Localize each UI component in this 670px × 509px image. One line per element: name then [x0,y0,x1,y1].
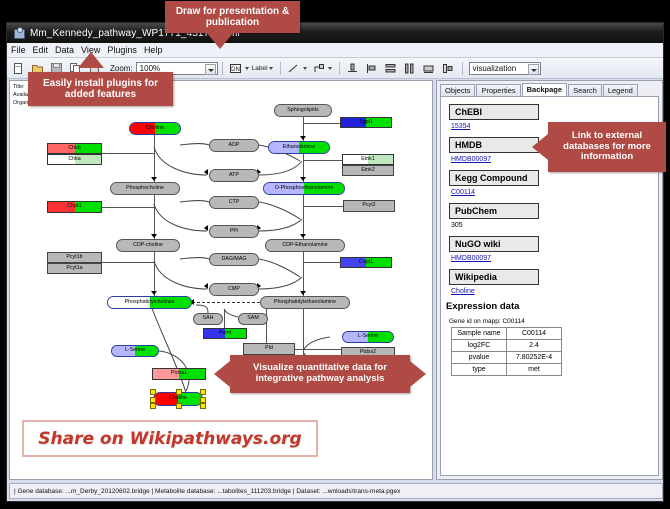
node-label: Phosphatidylethanolamine [274,300,336,305]
node-label: Chpt1 [67,204,81,209]
callout-link: Link to external databases for more info… [548,122,666,172]
node-label: L-Serine [125,348,145,353]
group-icon[interactable] [439,60,456,77]
pathway-node-ethanolamine_top[interactable]: Ethanolamine [268,141,330,154]
selection-handle[interactable] [176,403,182,409]
expression-row-value: 2.4 [507,340,562,352]
node-label: Choline [146,126,164,131]
pathway-node-cdp_choline[interactable]: CDP-choline [116,239,180,252]
selection-handle[interactable] [200,389,206,395]
pathway-node-sphingolipids[interactable]: Sphingolipids [274,104,332,117]
edge-cdpcholine-pc [154,252,155,296]
datanode-dropdown[interactable]: DN [227,60,249,77]
edge-sgpl1-catalysis [303,123,340,124]
align-top-icon[interactable] [344,60,361,77]
pathway-node-pemt[interactable]: Pemt [203,328,247,339]
arrowhead-icon [151,234,157,238]
screenshot-root: Mm_Kennedy_pathway_WP1771_45176.gpml Fil… [0,0,670,509]
expression-data-table: Sample nameC00114log2FC2.4pvalue7.80252E… [451,327,562,376]
panel-tab-strip: Objects Properties Backpage Search Legen… [440,83,639,96]
node-label: L-Serine [358,334,378,339]
edge-phosphocholine-cdpcholine [154,195,155,239]
pathway-node-l_serine_right[interactable]: L-Serine [342,331,394,343]
table-row: Sample nameC00114 [452,328,562,340]
node-label: Etnk1 [361,157,375,162]
callout-arrow-right-icon [410,361,426,387]
node-label: Ethanolamine [283,145,315,150]
tab-legend[interactable]: Legend [603,84,638,96]
database-header-nugo-wiki: NuGO wiki [449,236,539,252]
database-header-pubchem: PubChem [449,203,539,219]
title-bar: Mm_Kennedy_pathway_WP1771_45176.gpml [7,23,663,43]
edge-cept1-catalysis [303,262,340,263]
edge-pcyt1-catalysis [102,262,154,263]
pathway-node-phosphatidylcholines[interactable]: Phosphatidylcholines [107,296,192,309]
pathway-node-ctp[interactable]: CTP [209,196,259,209]
database-entry: Wikipedia [441,262,658,287]
node-label: Phosphatidylcholines [125,300,175,305]
arrowhead-icon [204,283,208,289]
node-label: Choline [169,396,187,401]
visualization-combobox[interactable]: visualization [469,62,541,75]
line-icon[interactable] [285,60,302,77]
node-label: Pld [265,346,273,351]
selection-handle[interactable] [150,403,156,409]
callout-arrow-up-icon [78,52,104,68]
node-label: Chkb [68,146,80,151]
arrowhead-icon [204,169,208,175]
pathway-node-dagmag[interactable]: DAG/MAG [209,253,259,266]
edge-pld-ptdss2 [295,349,341,350]
expression-row-label: Sample name [452,328,507,340]
pathway-node-chpt1[interactable]: Chpt1 [47,201,102,213]
edge-chpt1-catalysis [102,207,154,208]
node-label: Pemt [219,331,231,336]
gene-id-line: Gene id on mapp: C00114 [449,318,658,325]
database-header-hmdb: HMDB [449,137,539,153]
node-label: CMP [228,287,240,292]
expression-row-label: log2FC [452,340,507,352]
callout-visualize: Visualize quantitative data for integrat… [230,355,410,393]
node-label: ATP [229,173,239,178]
database-link-wikipedia[interactable]: Choline [451,288,658,295]
arrowhead-icon [300,234,306,238]
node-label: Phosphocholine [126,186,164,191]
node-label: PPi [230,229,238,234]
pathway-node-pcyt2[interactable]: Pcyt2 [343,200,395,212]
expression-row-label: type [452,364,507,376]
pathway-node-cmp[interactable]: CMP [209,283,259,296]
pathway-node-pld[interactable]: Pld [243,343,295,355]
node-label: Cept1 [359,260,373,265]
table-row: log2FC2.4 [452,340,562,352]
chevron-down-icon[interactable] [205,64,216,75]
pathway-node-phosphatidylethanolamine[interactable]: Phosphatidylethanolamine [260,296,350,309]
database-header-kegg-compound: Kegg Compound [449,170,539,186]
node-label: Ptdss1 [171,371,187,376]
pathway-node-cept1[interactable]: Cept1 [340,257,392,268]
edge-cdpetn-pe [303,252,304,296]
arrowhead-icon [300,136,306,140]
pathway-node-ptdss1[interactable]: Ptdss1 [152,368,206,380]
selection-handle[interactable] [150,389,156,395]
datanode-icon[interactable]: DN [227,60,244,77]
chevron-down-icon[interactable] [328,67,332,70]
callout-arrow-left-icon [214,361,230,387]
app-icon [13,27,25,39]
table-row: typemet [452,364,562,376]
arrowhead-icon [151,177,157,181]
stack-icon[interactable] [420,60,437,77]
info-label-title: Title: [13,84,25,90]
distribute-vert-icon[interactable] [382,60,399,77]
toolbar-separator [339,62,340,75]
svg-text:DN: DN [231,67,240,73]
chevron-down-icon[interactable] [528,64,539,75]
callout-share: Share on Wikipathways.org [22,420,318,457]
pathway-node-sah[interactable]: SAH [193,313,223,325]
edge-opetn-cdpetn [303,195,304,239]
node-label: Sphingolipids [287,108,319,113]
node-label: Pcyt1b [66,255,82,260]
chevron-down-icon[interactable] [303,67,307,70]
edge-pe-pc-dashed [192,302,260,303]
pathway-node-pcyt1a[interactable]: Pcyt1a [47,263,102,274]
pathway-node-adp[interactable]: ADP [209,139,259,152]
expression-row-value: met [507,364,562,376]
connector-icon[interactable] [310,60,327,77]
pathway-node-sgpl1[interactable]: Sgpl1 [340,117,392,128]
toolbar-separator [280,62,281,75]
status-bar: | Gene database: ...m_Derby_20120602.bri… [9,483,663,499]
pathway-node-etnk1[interactable]: Etnk1 [342,154,394,165]
node-label: Sgpl1 [359,120,373,125]
node-label: O-Phosphoethanolamine [275,186,334,191]
chevron-down-icon[interactable] [245,67,249,70]
menu-item-help[interactable]: Help [144,45,163,55]
table-row: pvalue7.80252E-4 [452,352,562,364]
node-label: CTP [229,200,240,205]
node-label: Chka [68,157,80,162]
node-label: SAH [203,316,214,321]
status-bar-text: | Gene database: ...m_Derby_20120602.bri… [14,488,400,495]
callout-arrow-left-icon [532,134,548,160]
expression-row-value: 7.80252E-4 [507,352,562,364]
info-label-organism: Organ [13,100,28,106]
database-header-chebi: ChEBI [449,104,539,120]
menu-item-edit[interactable]: Edit [33,45,49,55]
pathway-node-ophosphoethanolamine[interactable]: O-Phosphoethanolamine [263,182,345,195]
node-label: CDP-Ethanolamine [282,243,327,248]
arrowhead-icon [204,225,208,231]
toolbar-separator [222,62,223,75]
edge-choline-phosphocholine [154,135,155,182]
database-value-pubchem: 305 [451,222,658,229]
callout-arrow-down-icon [207,33,233,49]
database-entry: ChEBI [441,97,658,122]
label-dropdown[interactable]: Label [252,65,273,72]
database-link-kegg-compound[interactable]: C00114 [451,189,658,196]
pathway-node-pcyt1b[interactable]: Pcyt1b [47,252,102,263]
pathway-node-sam[interactable]: SAM [238,313,268,325]
line-tool-dropdown[interactable] [285,60,307,77]
align-left-icon[interactable] [363,60,380,77]
node-label: DAG/MAG [221,257,246,262]
menu-item-file[interactable]: File [11,45,26,55]
node-label: Etnk2 [361,168,375,173]
tab-search[interactable]: Search [568,84,602,96]
selection-handle[interactable] [200,403,206,409]
menu-bar: File Edit Data View Plugins Help [7,43,663,58]
arrowhead-icon [151,291,157,295]
new-file-icon[interactable] [10,60,27,77]
database-link-nugo-wiki[interactable]: HMDB00097 [451,255,658,262]
edge-etnk-catalysis [303,160,342,161]
info-label-available: Availa [13,92,28,98]
expression-row-label: pvalue [452,352,507,364]
visualization-value: visualization [473,64,517,73]
arrowhead-icon [300,291,306,295]
callout-plugins: Easily install plugins for added feature… [28,72,173,106]
pathway-node-chkb[interactable]: Chkb [47,143,102,154]
arrowhead-icon [300,177,306,181]
tab-backpage[interactable]: Backpage [522,83,567,96]
node-label: Pcyt2 [362,203,375,208]
pathway-node-etnk2[interactable]: Etnk2 [342,165,394,176]
database-entry: PubChem [441,196,658,221]
pathway-node-chka[interactable]: Chka [47,154,102,165]
expression-data-header: Expression data [446,301,658,312]
edge-chk-catalysis [102,153,154,154]
selection-handle[interactable] [176,389,182,395]
expression-row-value: C00114 [507,328,562,340]
edge-pcyt2-catalysis [303,206,343,207]
chevron-down-icon[interactable] [269,67,273,70]
pathway-node-phosphocholine[interactable]: Phosphocholine [110,182,180,195]
node-label: CDP-choline [133,243,163,248]
connector-tool-dropdown[interactable] [310,60,332,77]
callout-draw: Draw for presentation & publication [165,1,300,33]
label-tool-label: Label [252,65,268,72]
pathway-node-atp[interactable]: ATP [209,169,259,182]
pathway-node-choline_top[interactable]: Choline [129,122,181,135]
pathway-node-l_serine_left[interactable]: L-Serine [111,345,159,357]
node-label: SAM [247,316,258,321]
distribute-horiz-icon[interactable] [401,60,418,77]
menu-item-data[interactable]: Data [55,45,74,55]
pathway-node-ppi[interactable]: PPi [209,225,259,238]
tab-properties[interactable]: Properties [476,84,520,96]
pathway-node-cdp_ethanolamine[interactable]: CDP-Ethanolamine [265,239,345,252]
edge-sam-pemt [224,309,225,329]
database-header-wikipedia: Wikipedia [449,269,539,285]
database-entry: NuGO wiki [441,229,658,254]
toolbar-separator [462,62,463,75]
tab-objects[interactable]: Objects [440,84,475,96]
node-label: ADP [229,143,240,148]
menu-item-plugins[interactable]: Plugins [107,45,137,55]
node-label: Pcyt1a [66,266,82,271]
